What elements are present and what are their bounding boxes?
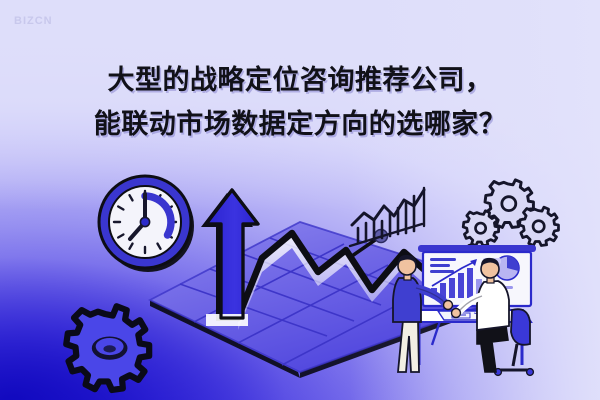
colleague-hand bbox=[452, 309, 461, 318]
gear-bottom-left-icon bbox=[66, 306, 149, 390]
gear-icon-small-right bbox=[520, 207, 559, 245]
gears-top-right-group bbox=[463, 180, 558, 246]
small-chart-axis-x bbox=[350, 224, 422, 246]
presenter-hand bbox=[444, 301, 453, 310]
poster-canvas: BIZCN 大型的战略定位咨询推荐公司， 能联动市场数据定方向的选哪家？ bbox=[0, 0, 600, 400]
illustration-scene bbox=[0, 0, 600, 400]
analog-clock-icon bbox=[99, 176, 194, 272]
